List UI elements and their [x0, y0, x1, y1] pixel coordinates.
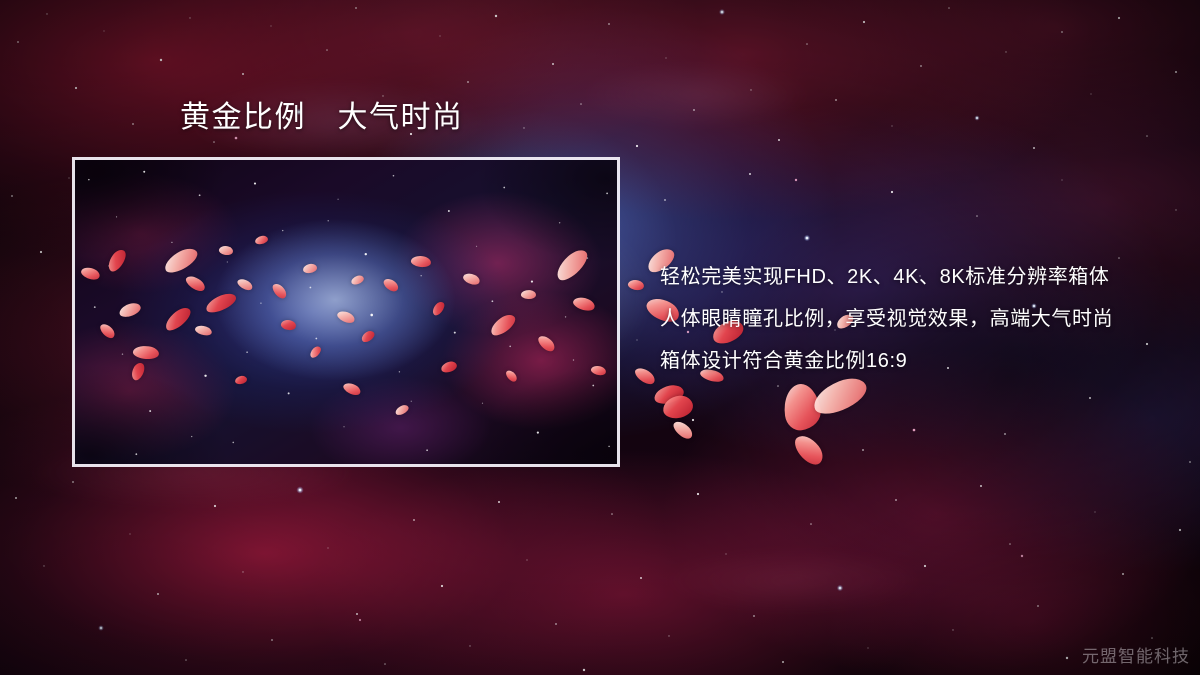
body-copy-line-1: 轻松完美实现FHD、2K、4K、8K标准分辨率箱体 — [660, 256, 1180, 298]
body-copy-line-2: 人体眼睛瞳孔比例，享受视觉效果，高端大气时尚 — [660, 298, 1180, 340]
framed-nebula-photo — [72, 157, 620, 467]
slide-canvas: 黄金比例 大气时尚 轻松完美实现FHD、2K、4K、8K标准分辨率箱体 人体眼睛… — [0, 0, 1200, 675]
body-copy-line-3: 箱体设计符合黄金比例16:9 — [660, 340, 1180, 382]
watermark-text: 元盟智能科技 — [1082, 642, 1190, 667]
body-copy-block: 轻松完美实现FHD、2K、4K、8K标准分辨率箱体 人体眼睛瞳孔比例，享受视觉效… — [660, 256, 1180, 382]
page-title: 黄金比例 大气时尚 — [180, 100, 464, 135]
